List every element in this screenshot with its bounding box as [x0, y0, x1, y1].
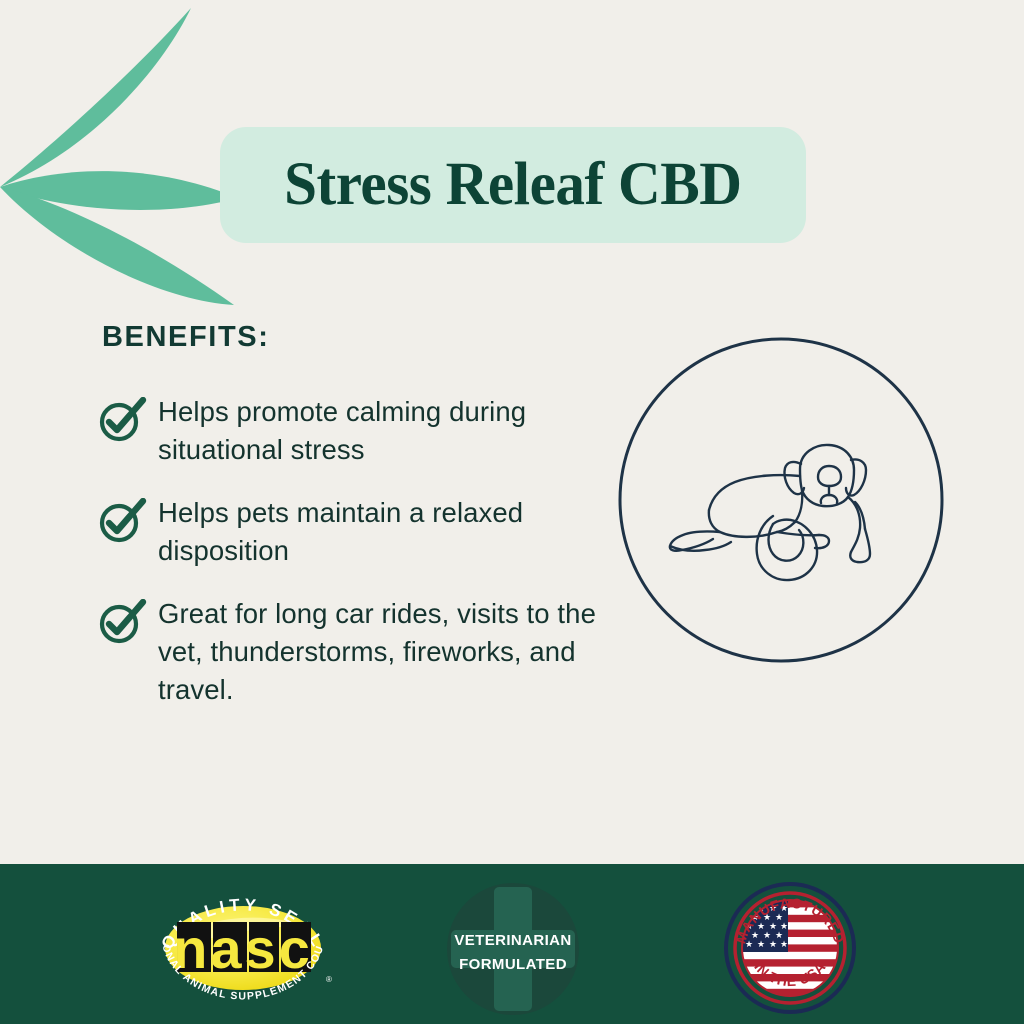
- veterinarian-formulated-icon: VETERINARIAN FORMULATED: [446, 882, 580, 1016]
- dog-lying-down-icon: [617, 336, 945, 664]
- check-circle-icon: [96, 493, 158, 544]
- nasc-quality-seal-icon: QUALITY SEAL nasc NATIONAL ANIMAL SUPPLE…: [145, 876, 341, 1016]
- svg-text:FORMULATED: FORMULATED: [459, 956, 567, 973]
- benefit-text: Great for long car rides, visits to the …: [158, 594, 616, 709]
- product-benefits-graphic: Stress Releaf CBD BENEFITS: Helps promot…: [0, 0, 1024, 1024]
- list-item: Great for long car rides, visits to the …: [96, 594, 616, 709]
- svg-text:VETERINARIAN: VETERINARIAN: [454, 932, 571, 949]
- svg-text:★: ★: [757, 940, 765, 950]
- benefit-text: Helps pets maintain a relaxed dispositio…: [158, 493, 616, 570]
- svg-text:★: ★: [769, 940, 777, 950]
- page-title: Stress Releaf CBD: [284, 150, 741, 220]
- list-item: Helps promote calming during situational…: [96, 392, 616, 469]
- check-circle-icon: [96, 392, 158, 443]
- trust-badges-footer: QUALITY SEAL nasc NATIONAL ANIMAL SUPPLE…: [0, 864, 1024, 1024]
- benefit-text: Helps promote calming during situational…: [158, 392, 616, 469]
- svg-text:nasc: nasc: [173, 917, 313, 980]
- benefits-list: Helps promote calming during situational…: [96, 392, 616, 733]
- benefits-heading: BENEFITS:: [102, 321, 269, 354]
- svg-text:★: ★: [780, 940, 788, 950]
- svg-text:®: ®: [326, 975, 332, 984]
- manufactured-in-usa-icon: ★★★★ ★★★ ★★★★ ★★★ ★★★★ MANUFACTURED IN T…: [722, 880, 858, 1016]
- check-circle-icon: [96, 594, 158, 645]
- title-panel: Stress Releaf CBD: [220, 127, 806, 243]
- list-item: Helps pets maintain a relaxed dispositio…: [96, 493, 616, 570]
